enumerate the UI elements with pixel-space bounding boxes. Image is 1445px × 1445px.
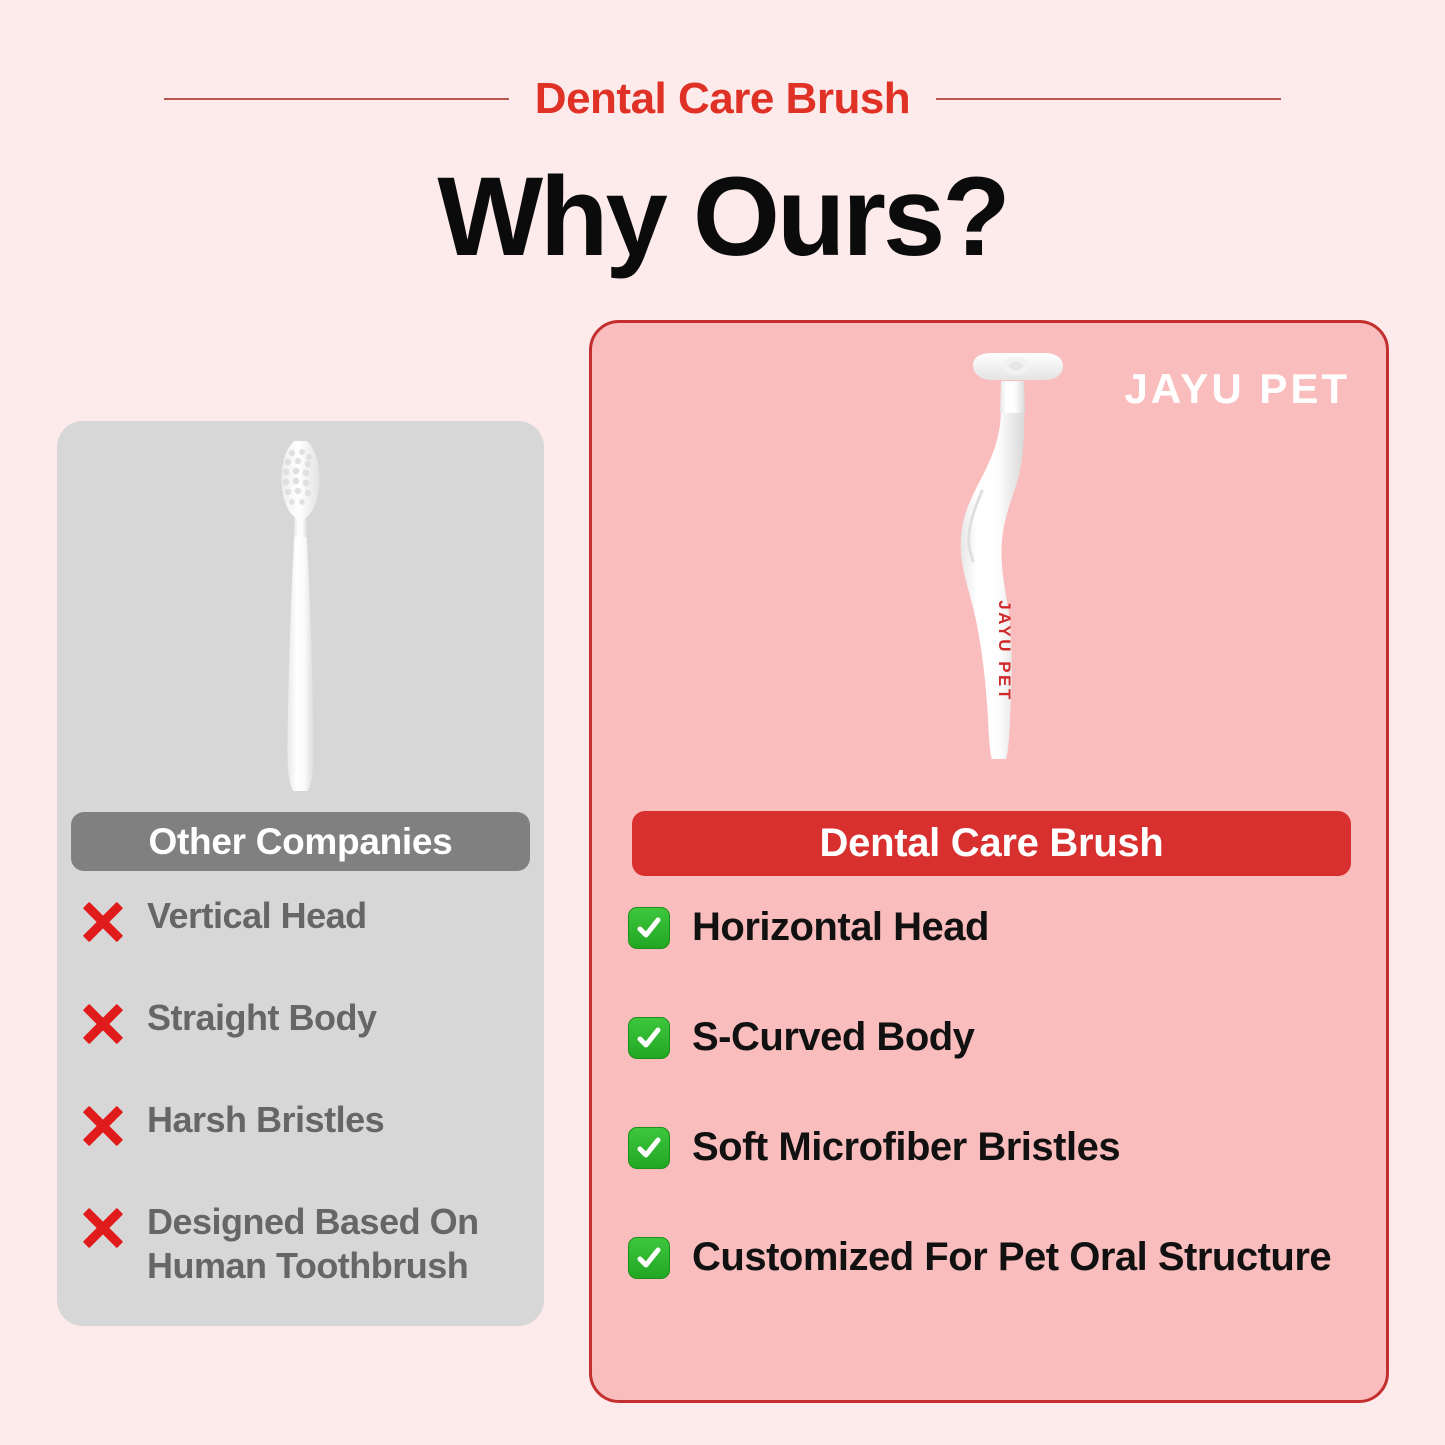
list-item-label: Harsh Bristles xyxy=(147,1098,384,1142)
other-companies-list: Vertical Head Straight Body Harsh Bristl… xyxy=(81,894,536,1302)
list-item: Horizontal Head xyxy=(628,903,1372,1013)
list-item: Soft Microfiber Bristles xyxy=(628,1123,1372,1233)
x-mark-icon xyxy=(81,1206,125,1250)
list-item: Vertical Head xyxy=(81,894,536,996)
check-mark-icon xyxy=(628,1127,670,1169)
x-mark-icon xyxy=(81,900,125,944)
other-companies-label: Other Companies xyxy=(71,812,530,871)
check-mark-icon xyxy=(628,907,670,949)
competitor-toothbrush-image xyxy=(57,441,544,811)
dental-care-brush-panel: JAYU PET xyxy=(589,320,1389,1403)
product-toothbrush-image: JAYU PET xyxy=(592,351,1386,771)
list-item-label: Vertical Head xyxy=(147,894,367,938)
x-mark-icon xyxy=(81,1104,125,1148)
page-title: Why Ours? xyxy=(0,158,1445,276)
other-companies-panel: Other Companies Vertical Head Straight B… xyxy=(57,421,544,1326)
x-mark-icon xyxy=(81,1002,125,1046)
list-item: S-Curved Body xyxy=(628,1013,1372,1123)
list-item-label: Customized For Pet Oral Structure xyxy=(692,1233,1331,1281)
eyebrow-rule-right xyxy=(936,98,1281,100)
check-mark-icon xyxy=(628,1017,670,1059)
eyebrow-header: Dental Care Brush xyxy=(0,68,1445,130)
eyebrow-rule-left xyxy=(164,98,509,100)
handle-brand-text: JAYU PET xyxy=(995,600,1014,702)
list-item: Designed Based On Human Toothbrush xyxy=(81,1200,536,1302)
dental-care-brush-label: Dental Care Brush xyxy=(632,811,1351,876)
list-item-label: Soft Microfiber Bristles xyxy=(692,1123,1120,1171)
list-item-label: Straight Body xyxy=(147,996,377,1040)
list-item: Harsh Bristles xyxy=(81,1098,536,1200)
list-item: Customized For Pet Oral Structure xyxy=(628,1233,1372,1343)
list-item-label: Horizontal Head xyxy=(692,903,989,951)
check-mark-icon xyxy=(628,1237,670,1279)
list-item-label: Designed Based On Human Toothbrush xyxy=(147,1200,536,1288)
list-item-label: S-Curved Body xyxy=(692,1013,974,1061)
eyebrow-title: Dental Care Brush xyxy=(535,74,910,124)
list-item: Straight Body xyxy=(81,996,536,1098)
dental-care-brush-list: Horizontal Head S-Curved Body Soft Micro… xyxy=(628,903,1372,1343)
